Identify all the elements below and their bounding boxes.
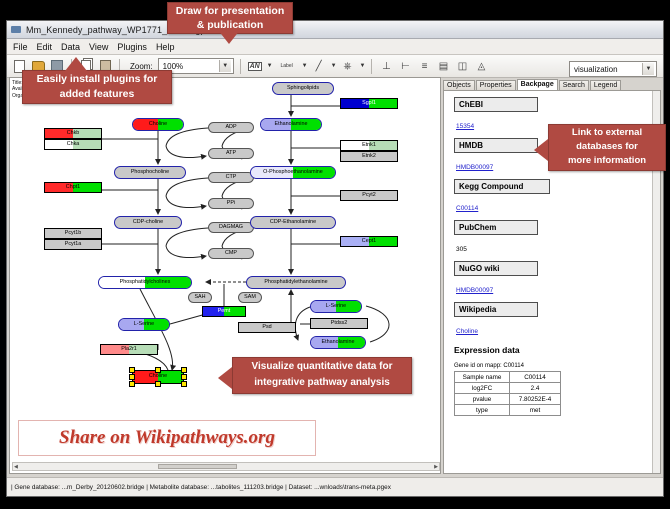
toolbar-separator <box>371 59 372 74</box>
expr-key-log2fc: log2FC <box>455 383 510 394</box>
pathway-drawing[interactable]: Title: Availa Organi <box>10 78 440 474</box>
gene-box-chka[interactable]: Chka <box>44 139 102 150</box>
node-ctp[interactable]: CTP <box>208 172 254 183</box>
anchor-glyph: AN <box>248 62 262 71</box>
menu-bar: File Edit Data View Plugins Help <box>7 39 663 55</box>
callout-arrow-left-icon <box>218 367 232 389</box>
expr-value-sample-name: C00114 <box>510 372 561 383</box>
node-phosphatidylethanolamine[interactable]: Phosphatidylethanolamine <box>246 276 346 289</box>
chevron-down-icon[interactable]: ▼ <box>642 63 654 75</box>
node-ethanolamine-top[interactable]: Ethanolamine <box>260 118 322 131</box>
node-choline-top[interactable]: Choline <box>132 118 184 131</box>
node-ppi[interactable]: PPi <box>208 198 254 209</box>
callout-external-links: Link to external databases for more info… <box>548 124 666 171</box>
menu-item-file[interactable]: File <box>13 42 28 52</box>
app-icon <box>11 24 22 35</box>
gene-box-cept1[interactable]: Cept1 <box>340 236 398 247</box>
gene-box-psd[interactable]: Psd <box>238 322 296 333</box>
gene-box-sgpl1[interactable]: Sgpl1 <box>340 98 398 109</box>
expr-key-type: type <box>455 405 510 416</box>
node-sah[interactable]: SAH <box>188 292 212 303</box>
side-panel-tabs: Objects Properties Backpage Search Legen… <box>443 77 661 90</box>
chevron-down-icon[interactable]: ▼ <box>267 63 273 69</box>
anchor-tool-icon[interactable]: AN <box>247 58 263 74</box>
db-header-nugo-wiki: NuGO wiki <box>454 261 538 276</box>
db-header-wikipedia: Wikipedia <box>454 302 538 317</box>
gene-box-pcyt1a[interactable]: Pcyt1a <box>44 239 102 250</box>
expression-data-heading: Expression data <box>454 345 652 355</box>
db-link-kegg-compound[interactable]: C00114 <box>456 205 478 212</box>
share-text: Share on Wikipathways.org <box>59 427 275 449</box>
align-bottom-icon[interactable]: ⊥ <box>378 58 394 74</box>
callout-line: more information <box>549 154 665 168</box>
tab-properties[interactable]: Properties <box>476 80 516 90</box>
db-link-hmdb[interactable]: HMDB00097 <box>456 164 493 171</box>
db-header-chebi: ChEBI <box>454 97 538 112</box>
callout-line: Draw for presentation <box>168 4 292 18</box>
node-sphingolipids[interactable]: Sphingolipids <box>272 82 334 95</box>
table-row: Sample name C00114 <box>455 372 561 383</box>
gene-box-pemt[interactable]: Pemt <box>202 306 246 317</box>
tab-legend[interactable]: Legend <box>590 80 621 90</box>
menu-item-edit[interactable]: Edit <box>37 42 53 52</box>
db-header-hmdb: HMDB <box>454 138 538 153</box>
chevron-down-icon[interactable]: ▼ <box>360 63 366 69</box>
expr-key-sample-name: Sample name <box>455 372 510 383</box>
node-ethanolamine-right[interactable]: Ethanolamine <box>310 336 366 349</box>
expr-value-type: met <box>510 405 561 416</box>
pathway-canvas[interactable]: Title: Availa Organi <box>9 77 441 474</box>
label-tool-icon[interactable]: Label <box>276 58 298 74</box>
db-link-nugo-wiki[interactable]: HMDB00097 <box>456 287 493 294</box>
shape-tool-icon[interactable]: ⎈ <box>340 58 356 74</box>
callout-install-plugins: Easily install plugins for added feature… <box>22 70 172 104</box>
label-tool-text: Label <box>281 63 293 69</box>
expression-table: Sample name C00114 log2FC 2.4 pvalue 7.8… <box>454 371 561 416</box>
tab-search[interactable]: Search <box>559 80 589 90</box>
menu-item-plugins[interactable]: Plugins <box>117 42 147 52</box>
scrollbar-thumb[interactable] <box>158 464 237 469</box>
scroll-right-icon[interactable]: ▶ <box>433 464 439 470</box>
expr-value-log2fc: 2.4 <box>510 383 561 394</box>
expr-key-pvalue: pvalue <box>455 394 510 405</box>
menu-item-data[interactable]: Data <box>61 42 80 52</box>
scroll-left-icon[interactable]: ◀ <box>13 464 19 470</box>
gene-box-chkb[interactable]: Chkb <box>44 128 102 139</box>
gene-box-chpt1[interactable]: Chpt1 <box>44 182 102 193</box>
node-l-serine-left[interactable]: L-Serine <box>118 318 170 331</box>
node-phosphatidylcholines[interactable]: Phosphatidylcholines <box>98 276 192 289</box>
db-header-pubchem: PubChem <box>454 220 538 235</box>
tab-backpage[interactable]: Backpage <box>517 79 558 90</box>
node-l-serine-right[interactable]: L-Serine <box>310 300 362 313</box>
gene-box-pcyt1b[interactable]: Pcyt1b <box>44 228 102 239</box>
menu-item-help[interactable]: Help <box>156 42 175 52</box>
share-on-wikipathways-banner: Share on Wikipathways.org <box>18 420 316 456</box>
distribute-horizontal-icon[interactable]: ▤ <box>435 58 451 74</box>
callout-line: integrative pathway analysis <box>233 375 411 391</box>
callout-line: databases for <box>549 140 665 154</box>
callout-line: Link to external <box>549 126 665 140</box>
table-row: type met <box>455 405 561 416</box>
gene-box-ptdss2[interactable]: Ptdss2 <box>310 318 368 329</box>
toolbar-separator <box>240 59 241 74</box>
callout-arrow-left-icon <box>534 139 548 161</box>
db-value-pubchem: 305 <box>456 246 467 253</box>
node-cmp[interactable]: CMP <box>208 248 254 259</box>
node-adp[interactable]: ADP <box>208 122 254 133</box>
callout-arrow-down-icon <box>218 30 240 44</box>
tab-objects[interactable]: Objects <box>443 80 475 90</box>
node-atp[interactable]: ATP <box>208 148 254 159</box>
callout-line: Visualize quantitative data for <box>233 359 411 375</box>
canvas-horizontal-scrollbar[interactable]: ◀ ▶ <box>12 462 440 471</box>
table-row: log2FC 2.4 <box>455 383 561 394</box>
node-phosphocholine[interactable]: Phosphocholine <box>114 166 186 179</box>
distribute-vertical-icon[interactable]: ≡ <box>416 58 432 74</box>
node-cdp-choline[interactable]: CDP-choline <box>114 216 182 229</box>
node-sam[interactable]: SAM <box>238 292 262 303</box>
node-cdp-ethanolamine[interactable]: CDP-Ethanolamine <box>250 216 336 229</box>
status-bar: | Gene database: ...m_Derby_20120602.bri… <box>7 477 663 496</box>
common-height-icon[interactable]: ◬ <box>473 58 489 74</box>
db-link-wikipedia[interactable]: Choline <box>456 328 478 335</box>
align-left-icon[interactable]: ⊢ <box>397 58 413 74</box>
callout-visualize-data: Visualize quantitative data for integrat… <box>232 357 412 394</box>
visualization-value: visualization <box>574 65 618 74</box>
common-width-icon[interactable]: ◫ <box>454 58 470 74</box>
gene-box-pla2r1[interactable]: Pla2r1 <box>100 344 158 355</box>
chevron-down-icon[interactable]: ▼ <box>302 63 308 69</box>
db-header-kegg-compound: Kegg Compound <box>454 179 550 194</box>
title-bar: Mm_Kennedy_pathway_WP1771_45176.gpml <box>7 21 663 39</box>
gene-box-etnk1[interactable]: Etnk1 <box>340 140 398 151</box>
gene-box-pcyt2[interactable]: Pcyt2 <box>340 190 398 201</box>
callout-line: added features <box>23 87 171 102</box>
gene-id-on-mapp: Gene id on mapp: C00114 <box>454 363 652 369</box>
db-link-chebi[interactable]: 15354 <box>456 123 474 130</box>
callout-line: Easily install plugins for <box>23 72 171 87</box>
table-row: pvalue 7.80252E-4 <box>455 394 561 405</box>
chevron-down-icon[interactable]: ▼ <box>331 63 337 69</box>
menu-item-view[interactable]: View <box>89 42 108 52</box>
callout-arrow-up-icon <box>65 57 87 71</box>
status-bar-text: | Gene database: ...m_Derby_20120602.bri… <box>7 484 391 491</box>
chevron-down-icon[interactable]: ▼ <box>219 60 231 72</box>
gene-box-etnk2[interactable]: Etnk2 <box>340 151 398 162</box>
node-dagmag[interactable]: DAGMAG <box>208 222 254 233</box>
node-o-phosphoethanolamine[interactable]: O-Phosphoethanolamine <box>250 166 336 179</box>
line-tool-icon[interactable]: ╱ <box>311 58 327 74</box>
expr-value-pvalue: 7.80252E-4 <box>510 394 561 405</box>
